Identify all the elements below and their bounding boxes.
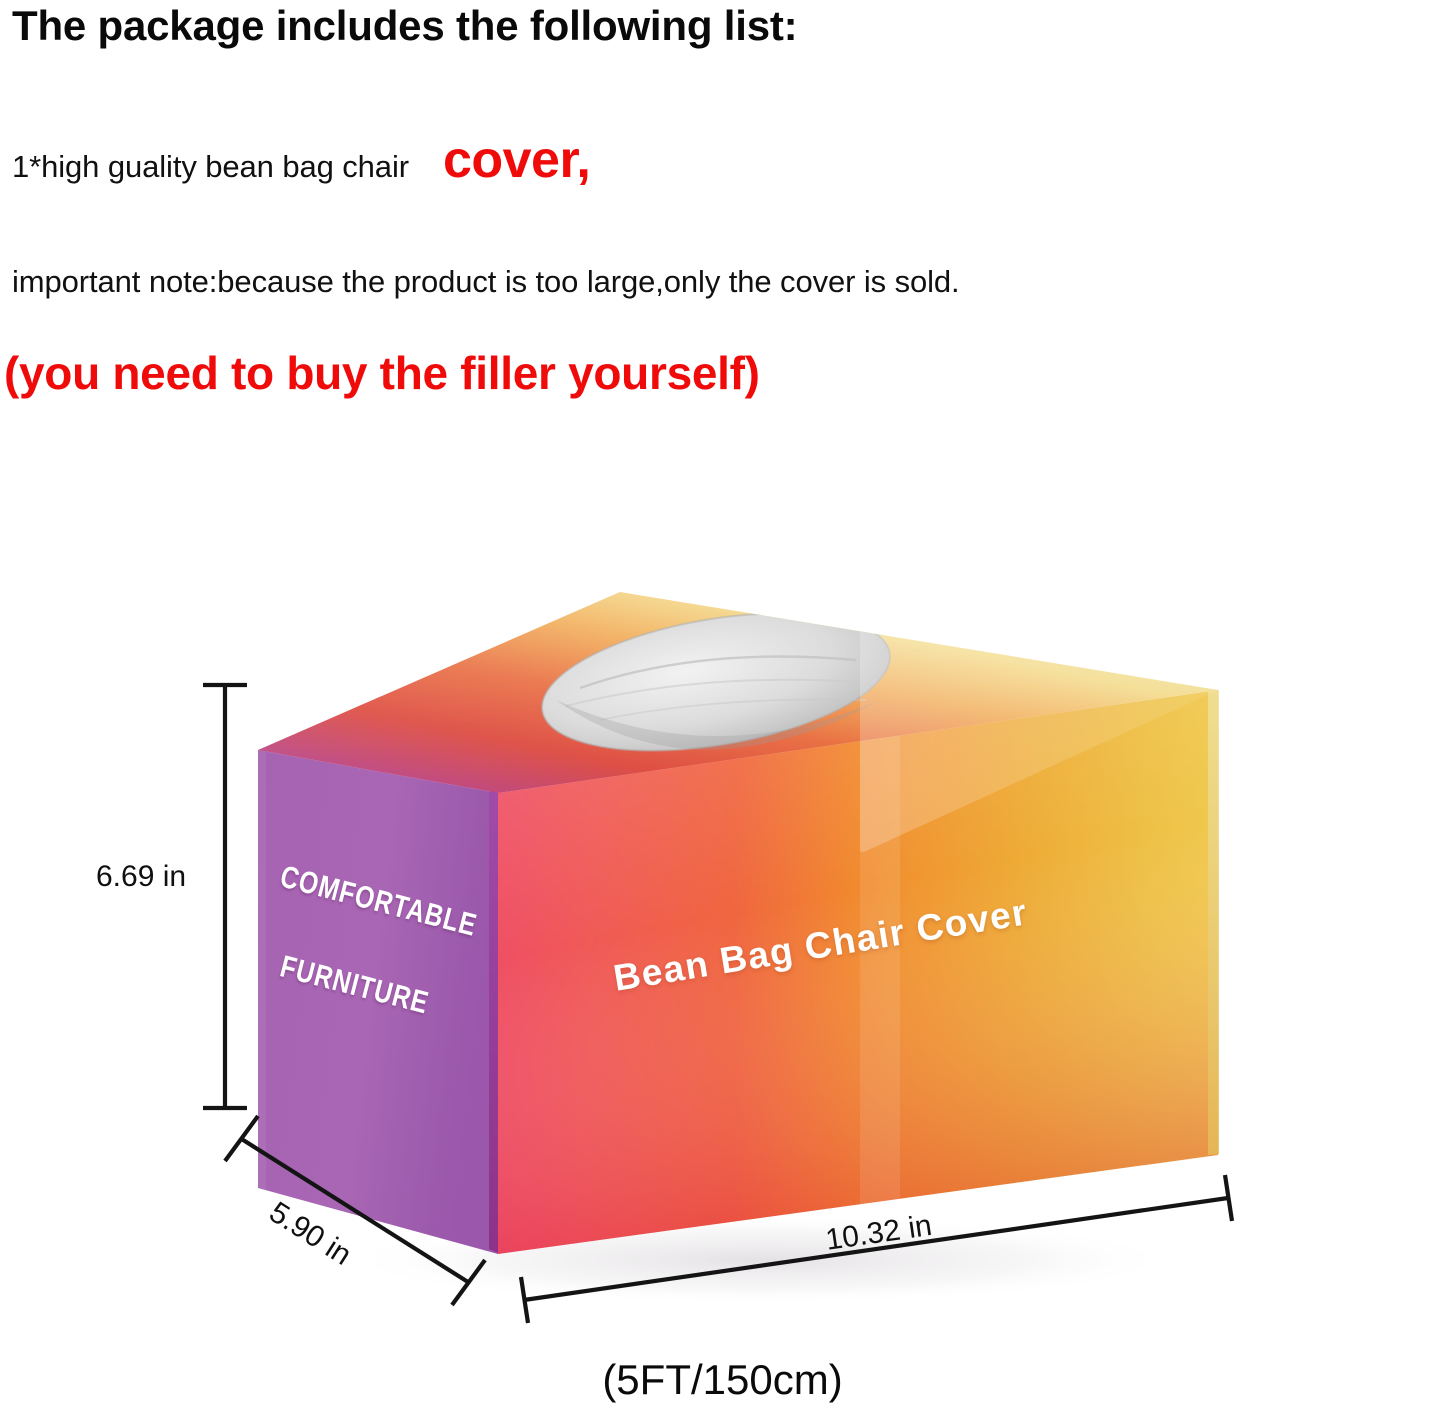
package-box-illustration: Bean Bag Chair Cover COMFORTABLE FURNITU… — [0, 560, 1445, 1426]
box-side-left-edge — [258, 750, 266, 1190]
package-item-highlight: cover, — [443, 130, 590, 190]
important-note-text: important note:because the product is to… — [12, 264, 960, 300]
package-item-line: 1*high guality bean bag chair cover, — [12, 130, 590, 190]
package-contents-header: The package includes the following list:… — [0, 0, 1445, 470]
package-item-text: 1*high guality bean bag chair — [12, 149, 409, 185]
filler-warning-text: (you need to buy the filler yourself) — [4, 346, 760, 400]
box-front-right-edge — [1208, 690, 1219, 1155]
page-title: The package includes the following list: — [12, 2, 797, 50]
box-side-face — [258, 750, 498, 1254]
dim-depth-cap-start — [225, 1116, 258, 1161]
size-caption: (5FT/150cm) — [0, 1356, 1445, 1404]
box-3d-drawing — [0, 560, 1445, 1426]
dimension-height-label: 6.69 in — [96, 860, 186, 894]
